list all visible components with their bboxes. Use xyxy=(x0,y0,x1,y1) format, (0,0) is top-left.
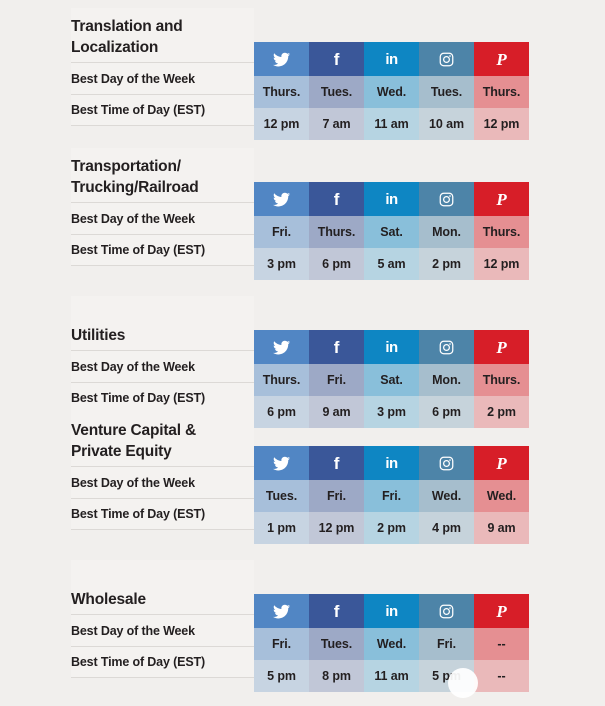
cell-best-day-twitter: Thurs. xyxy=(254,364,309,396)
row-label-best-day: Best Day of the Week xyxy=(71,614,254,646)
platform-grid: finPFri.Thurs.Sat.Mon.Thurs.3 pm6 pm5 am… xyxy=(254,182,529,280)
platform-header-row: finP xyxy=(254,42,529,76)
platform-grid: finPThurs.Tues.Wed.Tues.Thurs.12 pm7 am1… xyxy=(254,42,529,140)
data-row-best-time: 3 pm6 pm5 am2 pm12 pm xyxy=(254,248,529,280)
row-label-best-time: Best Time of Day (EST) xyxy=(71,234,254,266)
linkedin-icon: in xyxy=(385,52,397,67)
cell-best-day-pinterest: Thurs. xyxy=(474,364,529,396)
cell-best-time-facebook: 7 am xyxy=(309,108,364,140)
row-label-best-day: Best Day of the Week xyxy=(71,350,254,382)
cell-best-time-twitter: 12 pm xyxy=(254,108,309,140)
platform-header-linkedin[interactable]: in xyxy=(364,42,419,76)
twitter-icon xyxy=(273,340,290,355)
row-label-best-time: Best Time of Day (EST) xyxy=(71,646,254,678)
cell-best-day-linkedin: Sat. xyxy=(364,364,419,396)
cell-best-day-twitter: Fri. xyxy=(254,628,309,660)
data-row-best-time: 1 pm12 pm2 pm4 pm9 am xyxy=(254,512,529,544)
platform-header-facebook[interactable]: f xyxy=(309,594,364,628)
cell-best-day-pinterest: Wed. xyxy=(474,480,529,512)
data-row-best-day: Thurs.Tues.Wed.Tues.Thurs. xyxy=(254,76,529,108)
cell-best-day-pinterest: Thurs. xyxy=(474,76,529,108)
pinterest-icon: P xyxy=(496,339,506,356)
data-row-best-day: Thurs.Fri.Sat.Mon.Thurs. xyxy=(254,364,529,396)
row-label-best-day: Best Day of the Week xyxy=(71,202,254,234)
cell-best-day-instagram: Tues. xyxy=(419,76,474,108)
platform-header-twitter[interactable] xyxy=(254,182,309,216)
cell-best-time-pinterest: 9 am xyxy=(474,512,529,544)
cell-best-time-pinterest: -- xyxy=(474,660,529,692)
platform-header-twitter[interactable] xyxy=(254,42,309,76)
platform-header-linkedin[interactable]: in xyxy=(364,182,419,216)
row-label-best-day: Best Day of the Week xyxy=(71,62,254,94)
cell-best-day-facebook: Fri. xyxy=(309,364,364,396)
floating-chat-widget[interactable] xyxy=(448,668,478,698)
platform-header-linkedin[interactable]: in xyxy=(364,594,419,628)
linkedin-icon: in xyxy=(385,456,397,471)
industry-title: Venture Capital & Private Equity xyxy=(71,412,254,466)
row-label-best-time: Best Time of Day (EST) xyxy=(71,382,254,414)
cell-best-time-pinterest: 12 pm xyxy=(474,108,529,140)
cell-best-day-twitter: Fri. xyxy=(254,216,309,248)
cell-best-time-twitter: 1 pm xyxy=(254,512,309,544)
instagram-icon xyxy=(439,192,454,207)
platform-grid: finPFri.Tues.Wed.Fri.--5 pm8 pm11 am5 pm… xyxy=(254,594,529,692)
row-label-best-day: Best Day of the Week xyxy=(71,466,254,498)
cell-best-day-facebook: Thurs. xyxy=(309,216,364,248)
data-row-best-day: Fri.Thurs.Sat.Mon.Thurs. xyxy=(254,216,529,248)
industry-table: Transportation/ Trucking/RailroadBest Da… xyxy=(71,148,529,266)
label-column: Venture Capital & Private EquityBest Day… xyxy=(71,412,254,530)
cell-best-day-linkedin: Fri. xyxy=(364,480,419,512)
twitter-icon xyxy=(273,604,290,619)
instagram-icon xyxy=(439,456,454,471)
platform-header-linkedin[interactable]: in xyxy=(364,330,419,364)
facebook-icon: f xyxy=(334,603,340,620)
platform-header-twitter[interactable] xyxy=(254,594,309,628)
platform-header-instagram[interactable] xyxy=(419,182,474,216)
instagram-icon xyxy=(439,52,454,67)
facebook-icon: f xyxy=(334,455,340,472)
cell-best-day-linkedin: Wed. xyxy=(364,628,419,660)
platform-header-facebook[interactable]: f xyxy=(309,330,364,364)
cell-best-time-twitter: 3 pm xyxy=(254,248,309,280)
platform-header-instagram[interactable] xyxy=(419,594,474,628)
cell-best-time-instagram: 4 pm xyxy=(419,512,474,544)
pinterest-icon: P xyxy=(496,603,506,620)
cell-best-day-facebook: Tues. xyxy=(309,628,364,660)
cell-best-time-instagram: 10 am xyxy=(419,108,474,140)
platform-header-facebook[interactable]: f xyxy=(309,182,364,216)
label-column: Transportation/ Trucking/RailroadBest Da… xyxy=(71,148,254,266)
industry-table: Venture Capital & Private EquityBest Day… xyxy=(71,412,529,530)
label-column: UtilitiesBest Day of the WeekBest Time o… xyxy=(71,296,254,414)
cell-best-day-facebook: Tues. xyxy=(309,76,364,108)
data-row-best-time: 5 pm8 pm11 am5 pm-- xyxy=(254,660,529,692)
linkedin-icon: in xyxy=(385,192,397,207)
cell-best-time-linkedin: 11 am xyxy=(364,108,419,140)
platform-header-instagram[interactable] xyxy=(419,42,474,76)
cell-best-day-facebook: Fri. xyxy=(309,480,364,512)
facebook-icon: f xyxy=(334,339,340,356)
industry-title: Transportation/ Trucking/Railroad xyxy=(71,148,254,202)
cell-best-day-instagram: Mon. xyxy=(419,216,474,248)
cell-best-day-twitter: Thurs. xyxy=(254,76,309,108)
industry-table: UtilitiesBest Day of the WeekBest Time o… xyxy=(71,296,529,414)
platform-header-twitter[interactable] xyxy=(254,330,309,364)
cell-best-day-linkedin: Sat. xyxy=(364,216,419,248)
industry-title: Wholesale xyxy=(71,560,254,614)
cell-best-day-pinterest: -- xyxy=(474,628,529,660)
platform-header-instagram[interactable] xyxy=(419,446,474,480)
cell-best-time-instagram: 2 pm xyxy=(419,248,474,280)
platform-header-linkedin[interactable]: in xyxy=(364,446,419,480)
cell-best-day-instagram: Mon. xyxy=(419,364,474,396)
instagram-icon xyxy=(439,604,454,619)
infographic-sheet: Translation and LocalizationBest Day of … xyxy=(0,0,605,706)
platform-header-row: finP xyxy=(254,330,529,364)
twitter-icon xyxy=(273,52,290,67)
twitter-icon xyxy=(273,192,290,207)
cell-best-time-twitter: 5 pm xyxy=(254,660,309,692)
data-row-best-day: Fri.Tues.Wed.Fri.-- xyxy=(254,628,529,660)
pinterest-icon: P xyxy=(496,455,506,472)
platform-header-row: finP xyxy=(254,446,529,480)
twitter-icon xyxy=(273,456,290,471)
row-label-best-time: Best Time of Day (EST) xyxy=(71,94,254,126)
industry-title: Translation and Localization xyxy=(71,8,254,62)
facebook-icon: f xyxy=(334,51,340,68)
pinterest-icon: P xyxy=(496,191,506,208)
instagram-icon xyxy=(439,340,454,355)
industry-title: Utilities xyxy=(71,296,254,350)
label-column: Translation and LocalizationBest Day of … xyxy=(71,8,254,126)
cell-best-day-instagram: Wed. xyxy=(419,480,474,512)
platform-grid: finPTues.Fri.Fri.Wed.Wed.1 pm12 pm2 pm4 … xyxy=(254,446,529,544)
platform-header-instagram[interactable] xyxy=(419,330,474,364)
platform-header-row: finP xyxy=(254,594,529,628)
platform-header-pinterest[interactable]: P xyxy=(474,42,529,76)
platform-header-facebook[interactable]: f xyxy=(309,446,364,480)
platform-header-row: finP xyxy=(254,182,529,216)
cell-best-day-instagram: Fri. xyxy=(419,628,474,660)
cell-best-day-twitter: Tues. xyxy=(254,480,309,512)
platform-header-twitter[interactable] xyxy=(254,446,309,480)
cell-best-time-linkedin: 2 pm xyxy=(364,512,419,544)
cell-best-day-pinterest: Thurs. xyxy=(474,216,529,248)
cell-best-time-facebook: 12 pm xyxy=(309,512,364,544)
facebook-icon: f xyxy=(334,191,340,208)
row-label-best-time: Best Time of Day (EST) xyxy=(71,498,254,530)
cell-best-time-facebook: 6 pm xyxy=(309,248,364,280)
data-row-best-time: 12 pm7 am11 am10 am12 pm xyxy=(254,108,529,140)
data-row-best-day: Tues.Fri.Fri.Wed.Wed. xyxy=(254,480,529,512)
cell-best-time-linkedin: 5 am xyxy=(364,248,419,280)
cell-best-time-facebook: 8 pm xyxy=(309,660,364,692)
cell-best-time-pinterest: 12 pm xyxy=(474,248,529,280)
platform-header-pinterest[interactable]: P xyxy=(474,330,529,364)
platform-header-pinterest[interactable]: P xyxy=(474,446,529,480)
platform-header-pinterest[interactable]: P xyxy=(474,594,529,628)
pinterest-icon: P xyxy=(496,51,506,68)
platform-header-pinterest[interactable]: P xyxy=(474,182,529,216)
cell-best-time-linkedin: 11 am xyxy=(364,660,419,692)
industry-table: WholesaleBest Day of the WeekBest Time o… xyxy=(71,560,529,678)
industry-table: Translation and LocalizationBest Day of … xyxy=(71,8,529,126)
cell-best-day-linkedin: Wed. xyxy=(364,76,419,108)
linkedin-icon: in xyxy=(385,340,397,355)
label-column: WholesaleBest Day of the WeekBest Time o… xyxy=(71,560,254,678)
platform-header-facebook[interactable]: f xyxy=(309,42,364,76)
linkedin-icon: in xyxy=(385,604,397,619)
